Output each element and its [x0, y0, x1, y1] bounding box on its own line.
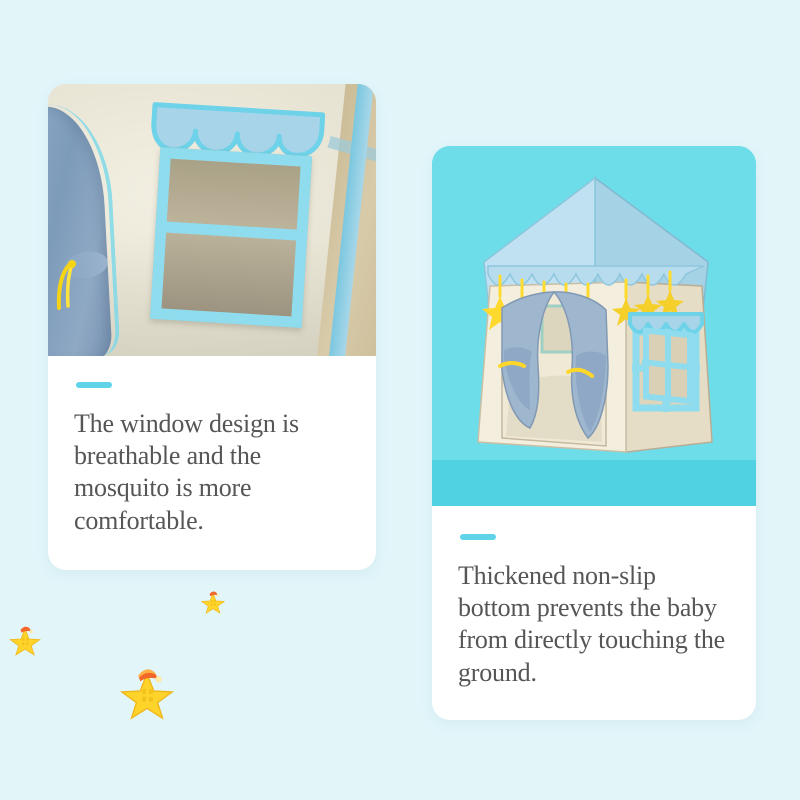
accent-dash: [76, 382, 112, 388]
feature-graphic: The window design is breathable and the …: [0, 0, 800, 800]
window-frame: [150, 147, 312, 328]
decorative-star-icon: [118, 662, 176, 720]
feature-photo-non-slip-bottom: [432, 146, 756, 506]
tent-window: [137, 100, 341, 343]
caption-text: Thickened non-slip bottom prevents the b…: [458, 560, 730, 689]
decorative-star-icon: [200, 588, 226, 614]
feature-caption-non-slip-bottom: Thickened non-slip bottom prevents the b…: [432, 506, 756, 689]
yellow-tie-ribbon-icon: [54, 260, 80, 312]
accent-dash: [460, 534, 496, 540]
feature-caption-window-design: The window design is breathable and the …: [48, 356, 376, 537]
window-mesh: [162, 159, 301, 317]
feature-card-non-slip-bottom: Thickened non-slip bottom prevents the b…: [432, 146, 756, 720]
play-tent: [450, 170, 740, 470]
caption-text: The window design is breathable and the …: [74, 408, 350, 537]
feature-card-window-design: The window design is breathable and the …: [48, 84, 376, 570]
decorative-star-icon: [8, 622, 42, 656]
feature-photo-window-design: [48, 84, 376, 356]
